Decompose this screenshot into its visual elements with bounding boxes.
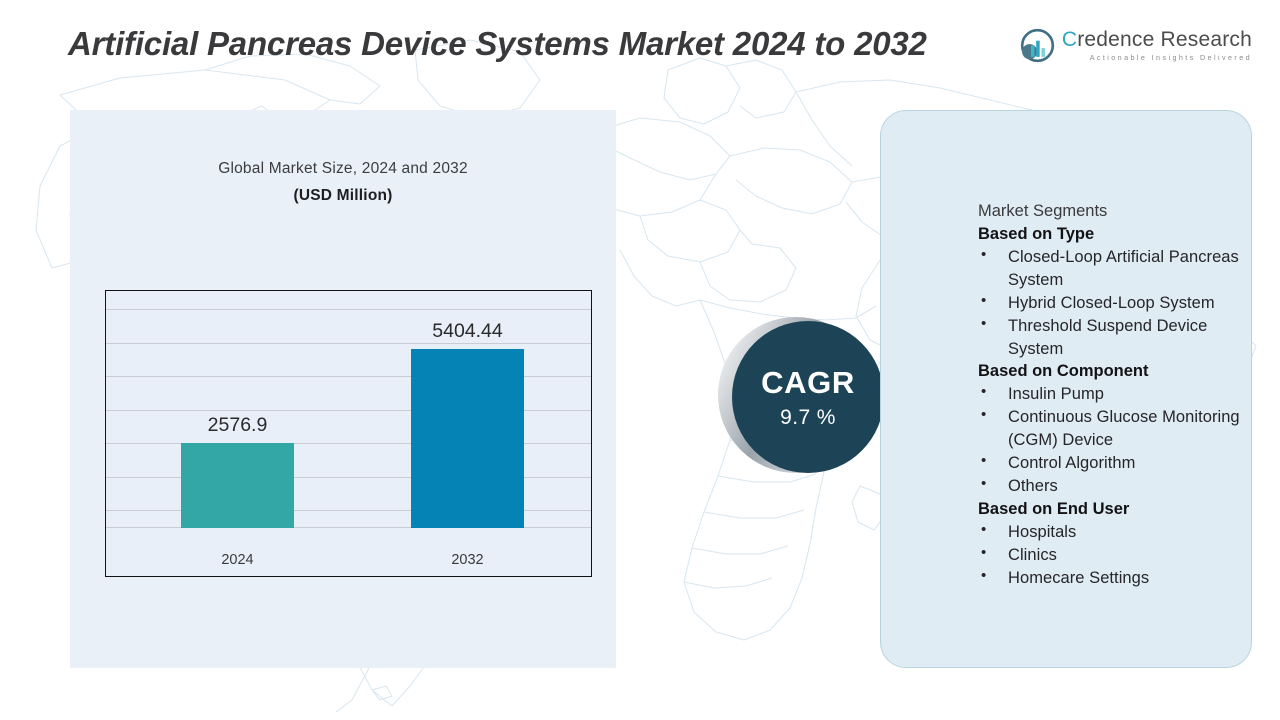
- chart-subtitle-line1: Global Market Size, 2024 and 2032: [70, 160, 616, 178]
- chart-subtitle-line2: (USD Million): [70, 187, 616, 205]
- market-segments-content: Market Segments Based on Type•Closed-Loo…: [978, 200, 1258, 590]
- cagr-badge: CAGR 9.7 %: [718, 317, 888, 477]
- segment-list-item: •Closed-Loop Artificial Pancreas System: [978, 246, 1258, 292]
- brand-logo: Credence Research Actionable Insights De…: [1020, 28, 1252, 63]
- segment-groups: Based on Type•Closed-Loop Artificial Pan…: [978, 223, 1258, 590]
- bar-2024: 2576.9 2024: [181, 443, 294, 528]
- bullet-icon: •: [981, 520, 986, 541]
- segment-item-label: Hybrid Closed-Loop System: [1008, 294, 1215, 312]
- segment-item-label: Continuous Glucose Monitoring (CGM) Devi…: [1008, 408, 1240, 449]
- cagr-circle: CAGR 9.7 %: [732, 321, 884, 473]
- chart-plot-area: 2576.9 2024 5404.44 2032: [106, 291, 591, 576]
- bar-category-2032: 2032: [451, 552, 483, 568]
- bullet-icon: •: [981, 474, 986, 495]
- segment-group-title: Based on Component: [978, 360, 1258, 383]
- page-title: Artificial Pancreas Device Systems Marke…: [68, 22, 1028, 66]
- brand-name-rest: redence Research: [1077, 28, 1252, 51]
- bar-value-2024: 2576.9: [208, 414, 268, 437]
- segment-list-item: •Others: [978, 475, 1258, 498]
- segment-item-label: Closed-Loop Artificial Pancreas System: [1008, 248, 1239, 289]
- segment-item-label: Threshold Suspend Device System: [1008, 317, 1207, 358]
- market-segments-heading: Market Segments: [978, 200, 1258, 223]
- segment-list: •Insulin Pump•Continuous Glucose Monitor…: [978, 383, 1258, 498]
- bar-chart: 2576.9 2024 5404.44 2032: [105, 290, 592, 577]
- cagr-value: 9.7 %: [780, 407, 836, 428]
- segment-group-title: Based on End User: [978, 498, 1258, 521]
- segment-list-item: •Clinics: [978, 544, 1258, 567]
- brand-tagline: Actionable Insights Delivered: [1062, 54, 1252, 61]
- bullet-icon: •: [981, 382, 986, 403]
- bullet-icon: •: [981, 291, 986, 312]
- bullet-icon: •: [981, 566, 986, 587]
- chart-subtitle: Global Market Size, 2024 and 2032 (USD M…: [70, 160, 616, 205]
- segment-item-label: Homecare Settings: [1008, 569, 1149, 587]
- bar-chart-circle-logo-icon: [1020, 28, 1055, 63]
- bar-rect-2024: [181, 443, 294, 528]
- bullet-icon: •: [981, 451, 986, 472]
- segment-list-item: •Threshold Suspend Device System: [978, 315, 1258, 361]
- bar-value-2032: 5404.44: [432, 320, 503, 343]
- segment-group-title: Based on Type: [978, 223, 1258, 246]
- bar-2032: 5404.44 2032: [411, 349, 524, 528]
- segment-list-item: •Hybrid Closed-Loop System: [978, 292, 1258, 315]
- segment-list-item: •Homecare Settings: [978, 567, 1258, 590]
- segment-list-item: •Control Algorithm: [978, 452, 1258, 475]
- bullet-icon: •: [981, 405, 986, 426]
- bullet-icon: •: [981, 245, 986, 266]
- brand-logo-text: Credence Research Actionable Insights De…: [1062, 29, 1252, 61]
- segment-item-label: Insulin Pump: [1008, 385, 1104, 403]
- segment-list-item: •Hospitals: [978, 521, 1258, 544]
- infographic-canvas: Artificial Pancreas Device Systems Marke…: [0, 0, 1280, 720]
- segment-item-label: Control Algorithm: [1008, 454, 1135, 472]
- segment-list-item: •Insulin Pump: [978, 383, 1258, 406]
- segment-list: •Closed-Loop Artificial Pancreas System•…: [978, 246, 1258, 361]
- segment-list-item: •Continuous Glucose Monitoring (CGM) Dev…: [978, 406, 1258, 452]
- brand-name-initial: C: [1062, 28, 1077, 51]
- bullet-icon: •: [981, 543, 986, 564]
- cagr-label: CAGR: [761, 367, 855, 398]
- brand-name: Credence Research: [1062, 29, 1252, 50]
- bar-category-2024: 2024: [221, 552, 253, 568]
- segment-item-label: Others: [1008, 477, 1058, 495]
- segment-item-label: Clinics: [1008, 546, 1057, 564]
- segment-list: •Hospitals•Clinics•Homecare Settings: [978, 521, 1258, 590]
- bar-rect-2032: [411, 349, 524, 528]
- segment-item-label: Hospitals: [1008, 523, 1076, 541]
- bullet-icon: •: [981, 314, 986, 335]
